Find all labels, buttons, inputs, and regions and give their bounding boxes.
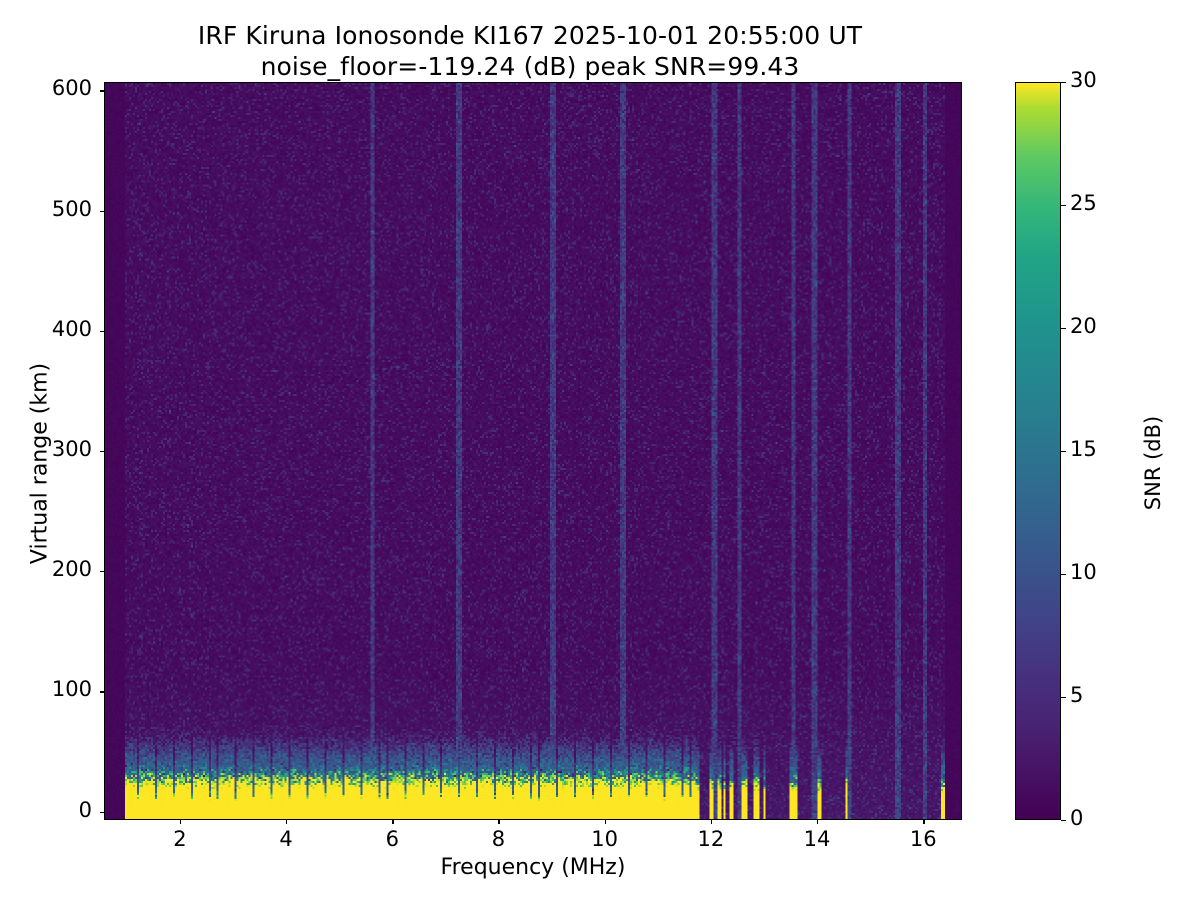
colorbar-tick-label: 15: [1070, 437, 1097, 461]
y-tick: [100, 211, 104, 212]
x-tick-label: 4: [256, 827, 316, 851]
x-tick: [605, 820, 606, 824]
x-tick: [392, 820, 393, 824]
colorbar-tick: [1061, 328, 1066, 329]
y-tick: [100, 90, 104, 91]
colorbar-tick: [1061, 205, 1066, 206]
ionogram-heatmap: [105, 83, 961, 819]
x-tick: [180, 820, 181, 824]
heatmap-axes: [104, 82, 962, 820]
x-tick: [498, 820, 499, 824]
x-tick-label: 16: [893, 827, 953, 851]
x-tick-label: 14: [787, 827, 847, 851]
colorbar-tick: [1061, 451, 1066, 452]
y-tick-label: 600: [0, 76, 92, 100]
x-axis-label: Frequency (MHz): [104, 855, 962, 880]
x-tick: [711, 820, 712, 824]
y-tick: [100, 331, 104, 332]
colorbar-tick: [1061, 574, 1066, 575]
title-line-1: IRF Kiruna Ionosonde KI167 2025-10-01 20…: [198, 21, 862, 50]
x-tick-label: 6: [362, 827, 422, 851]
y-axis-label: Virtual range (km): [28, 264, 53, 664]
ionogram-figure: IRF Kiruna Ionosonde KI167 2025-10-01 20…: [0, 0, 1200, 900]
x-tick: [286, 820, 287, 824]
colorbar-tick-label: 20: [1070, 314, 1097, 338]
x-tick-label: 8: [468, 827, 528, 851]
y-tick: [100, 812, 104, 813]
colorbar-tick: [1061, 820, 1066, 821]
colorbar-tick: [1061, 697, 1066, 698]
x-tick: [817, 820, 818, 824]
colorbar-tick-label: 30: [1070, 68, 1097, 92]
x-tick-label: 12: [681, 827, 741, 851]
colorbar-tick-label: 0: [1070, 806, 1083, 830]
colorbar-label: SNR (dB): [1141, 313, 1165, 613]
y-tick-label: 100: [0, 677, 92, 701]
figure-title: IRF Kiruna Ionosonde KI167 2025-10-01 20…: [0, 20, 1060, 82]
y-tick-label: 0: [0, 798, 92, 822]
x-tick-label: 2: [150, 827, 210, 851]
colorbar-tick-label: 5: [1070, 683, 1083, 707]
x-tick: [923, 820, 924, 824]
colorbar-tick-label: 25: [1070, 191, 1097, 215]
colorbar-tick-label: 10: [1070, 560, 1097, 584]
title-line-2: noise_floor=-119.24 (dB) peak SNR=99.43: [0, 51, 1060, 82]
y-tick: [100, 451, 104, 452]
y-tick: [100, 571, 104, 572]
colorbar: [1015, 82, 1061, 820]
y-tick-label: 500: [0, 197, 92, 221]
x-tick-label: 10: [575, 827, 635, 851]
colorbar-tick: [1061, 82, 1066, 83]
y-tick: [100, 691, 104, 692]
